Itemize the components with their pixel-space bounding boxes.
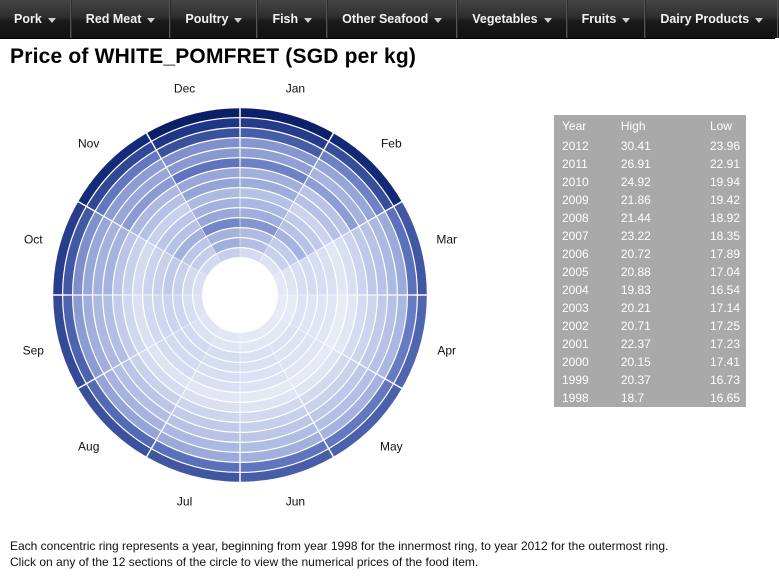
month-label-nov: Nov <box>78 137 99 151</box>
nav-label: Poultry <box>185 12 228 26</box>
nav-label: Fruits <box>582 12 617 26</box>
table-row: 200620.7217.89 <box>554 245 746 263</box>
table-cell-year: 2000 <box>554 353 613 371</box>
nav-item-red-meat[interactable]: Red Meat <box>71 0 171 38</box>
table-row: 200020.1517.41 <box>554 353 746 371</box>
table-row: 200821.4418.92 <box>554 209 746 227</box>
nav-label: Fish <box>272 12 298 26</box>
table-cell-year: 2011 <box>554 155 613 173</box>
table-cell-high: 24.92 <box>613 173 702 191</box>
table-cell-year: 2001 <box>554 335 613 353</box>
table-cell-high: 20.15 <box>613 353 702 371</box>
table-row: 200723.2218.35 <box>554 227 746 245</box>
chart-footnote: Each concentric ring represents a year, … <box>10 538 770 570</box>
table-cell-year: 2003 <box>554 299 613 317</box>
month-label-oct: Oct <box>24 233 43 247</box>
table-cell-low: 19.94 <box>702 173 746 191</box>
table-cell-high: 19.83 <box>613 281 702 299</box>
polar-chart[interactable]: JanFebMarAprMayJunJulAugSepOctNovDec <box>0 78 540 533</box>
table-row: 199920.3716.73 <box>554 371 746 389</box>
chevron-down-icon <box>434 18 442 23</box>
nav-item-fruits[interactable]: Fruits <box>567 0 646 38</box>
month-label-feb: Feb <box>381 137 402 151</box>
table-row: 200320.2117.14 <box>554 299 746 317</box>
table-row: 200122.3717.23 <box>554 335 746 353</box>
table-body: 201230.4123.96201126.9122.91201024.9219.… <box>554 137 746 407</box>
table-cell-low: 17.14 <box>702 299 746 317</box>
table-header-high: High <box>613 115 702 137</box>
table-row: 201024.9219.94 <box>554 173 746 191</box>
nav-label: Dairy Products <box>660 12 749 26</box>
table-row: 199818.716.65 <box>554 389 746 407</box>
table-cell-high: 21.44 <box>613 209 702 227</box>
table-cell-high: 20.88 <box>613 263 702 281</box>
table-cell-year: 2006 <box>554 245 613 263</box>
table-cell-high: 20.21 <box>613 299 702 317</box>
nav-label: Other Seafood <box>342 12 428 26</box>
table-cell-low: 17.25 <box>702 317 746 335</box>
table-cell-high: 22.37 <box>613 335 702 353</box>
table-cell-low: 16.65 <box>702 389 746 407</box>
nav-item-pork[interactable]: Pork <box>0 0 71 38</box>
table-cell-year: 2004 <box>554 281 613 299</box>
table-cell-high: 20.72 <box>613 245 702 263</box>
table-cell-low: 17.23 <box>702 335 746 353</box>
table-cell-low: 17.41 <box>702 353 746 371</box>
table-cell-high: 21.86 <box>613 191 702 209</box>
table-header-row: Year High Low <box>554 115 746 137</box>
table-cell-year: 1998 <box>554 389 613 407</box>
table-row: 200921.8619.42 <box>554 191 746 209</box>
nav-item-fish[interactable]: Fish <box>257 0 327 38</box>
footnote-line-2: Click on any of the 12 sections of the c… <box>10 554 770 570</box>
table-cell-high: 20.71 <box>613 317 702 335</box>
page-root: Pork Red Meat Poultry Fish Other Seafood… <box>0 0 779 587</box>
footnote-line-1: Each concentric ring represents a year, … <box>10 538 770 554</box>
main-navigation: Pork Red Meat Poultry Fish Other Seafood… <box>0 0 779 39</box>
table-cell-year: 2012 <box>554 137 613 155</box>
table-row: 201230.4123.96 <box>554 137 746 155</box>
month-label-jun: Jun <box>286 495 305 509</box>
table-header-year: Year <box>554 115 613 137</box>
table-row: 200220.7117.25 <box>554 317 746 335</box>
table-cell-low: 16.73 <box>702 371 746 389</box>
nav-item-vegetables[interactable]: Vegetables <box>457 0 566 38</box>
table-cell-low: 22.91 <box>702 155 746 173</box>
table-row: 201126.9122.91 <box>554 155 746 173</box>
chevron-down-icon <box>234 18 242 23</box>
chevron-down-icon <box>304 18 312 23</box>
polar-rings[interactable] <box>53 108 427 482</box>
polar-chart-svg[interactable]: JanFebMarAprMayJunJulAugSepOctNovDec <box>0 78 540 533</box>
table-header-low: Low <box>702 115 746 137</box>
nav-label: Red Meat <box>86 12 142 26</box>
month-label-aug: Aug <box>78 439 99 453</box>
table-cell-year: 2009 <box>554 191 613 209</box>
month-labels: JanFebMarAprMayJunJulAugSepOctNovDec <box>23 81 457 508</box>
chevron-down-icon <box>147 18 155 23</box>
yearly-price-table: Year High Low 201230.4123.96201126.9122.… <box>554 115 746 407</box>
month-label-dec: Dec <box>174 81 195 95</box>
chevron-down-icon <box>622 18 630 23</box>
table-row: 200520.8817.04 <box>554 263 746 281</box>
table-row: 200419.8316.54 <box>554 281 746 299</box>
month-label-sep: Sep <box>23 343 45 357</box>
table-cell-year: 2002 <box>554 317 613 335</box>
table-cell-low: 17.89 <box>702 245 746 263</box>
table-cell-low: 23.96 <box>702 137 746 155</box>
table-cell-low: 19.42 <box>702 191 746 209</box>
month-label-jan: Jan <box>286 81 305 95</box>
table-cell-year: 2005 <box>554 263 613 281</box>
table-cell-low: 18.92 <box>702 209 746 227</box>
month-label-mar: Mar <box>436 233 457 247</box>
month-label-may: May <box>380 439 403 453</box>
table-cell-high: 20.37 <box>613 371 702 389</box>
table-cell-year: 2007 <box>554 227 613 245</box>
table-cell-year: 1999 <box>554 371 613 389</box>
table-cell-low: 18.35 <box>702 227 746 245</box>
nav-item-dairy-products[interactable]: Dairy Products <box>645 0 778 38</box>
month-label-apr: Apr <box>437 343 456 357</box>
table-cell-low: 16.54 <box>702 281 746 299</box>
table-cell-high: 23.22 <box>613 227 702 245</box>
table-cell-high: 26.91 <box>613 155 702 173</box>
table-cell-year: 2010 <box>554 173 613 191</box>
chevron-down-icon <box>755 18 763 23</box>
nav-item-other-seafood[interactable]: Other Seafood <box>327 0 457 38</box>
right-edge-strip <box>775 38 779 587</box>
table-cell-high: 30.41 <box>613 137 702 155</box>
page-title: Price of WHITE_POMFRET (SGD per kg) <box>10 45 416 69</box>
nav-label: Vegetables <box>472 12 537 26</box>
month-label-jul: Jul <box>177 495 192 509</box>
table-cell-year: 2008 <box>554 209 613 227</box>
chevron-down-icon <box>544 18 552 23</box>
nav-label: Pork <box>14 12 42 26</box>
nav-item-poultry[interactable]: Poultry <box>170 0 257 38</box>
table-cell-low: 17.04 <box>702 263 746 281</box>
table-cell-high: 18.7 <box>613 389 702 407</box>
chevron-down-icon <box>48 18 56 23</box>
